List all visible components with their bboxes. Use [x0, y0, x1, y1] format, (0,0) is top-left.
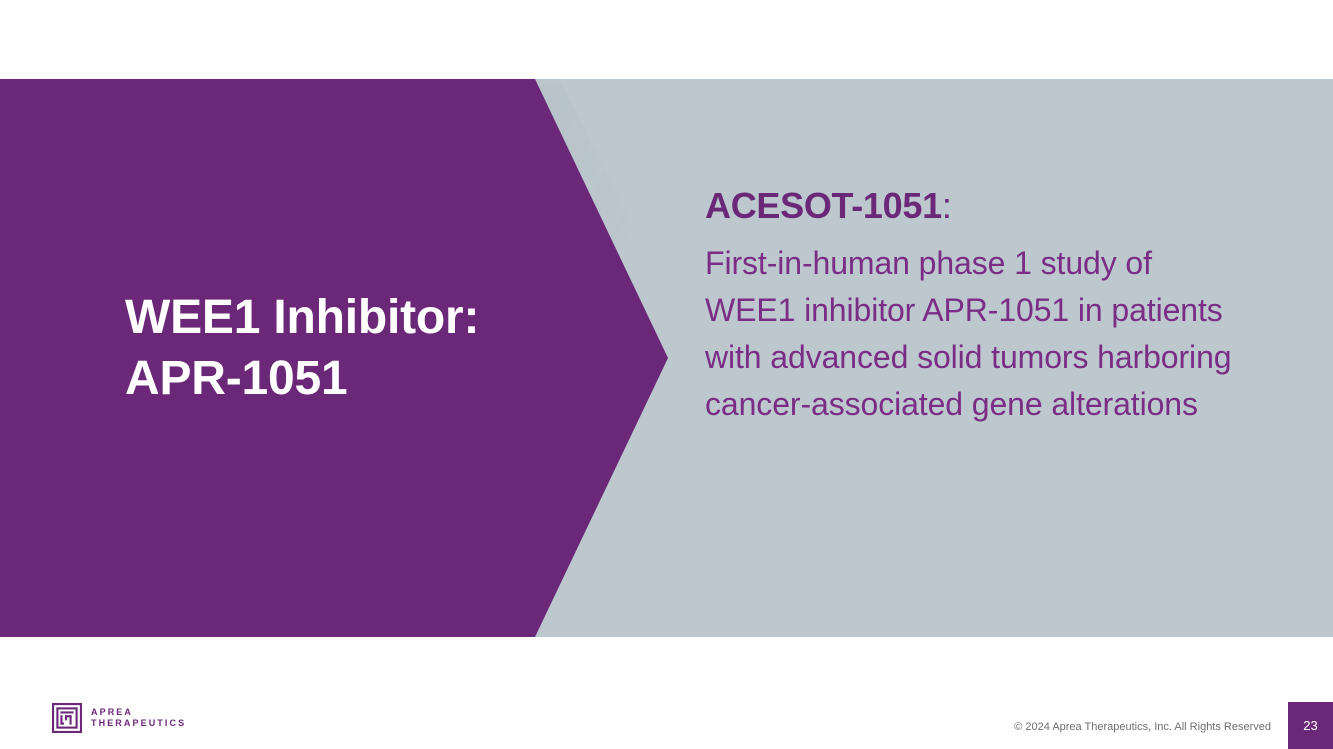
copy-block: ACESOT-1051: First-in-human phase 1 stud…: [705, 185, 1235, 429]
company-wordmark: APREA THERAPEUTICS: [91, 707, 186, 728]
study-description: First-in-human phase 1 study of WEE1 inh…: [705, 240, 1235, 428]
wordmark-line-2: THERAPEUTICS: [91, 718, 186, 729]
study-name-colon: :: [942, 185, 952, 226]
slide-canvas: WEE1 Inhibitor: APR-1051 ACESOT-1051: Fi…: [0, 0, 1333, 749]
study-name-heading: ACESOT-1051:: [705, 185, 1235, 226]
page-number: 23: [1303, 718, 1317, 733]
page-number-badge: 23: [1288, 702, 1333, 749]
aprea-maze-logo-icon: [52, 703, 82, 733]
study-name-text: ACESOT-1051: [705, 185, 942, 226]
company-logo: APREA THERAPEUTICS: [52, 703, 186, 733]
wordmark-line-1: APREA: [91, 707, 186, 718]
page-title: WEE1 Inhibitor: APR-1051: [125, 288, 545, 410]
copyright-notice: © 2024 Aprea Therapeutics, Inc. All Righ…: [1014, 721, 1271, 733]
title-block: WEE1 Inhibitor: APR-1051: [125, 288, 545, 410]
